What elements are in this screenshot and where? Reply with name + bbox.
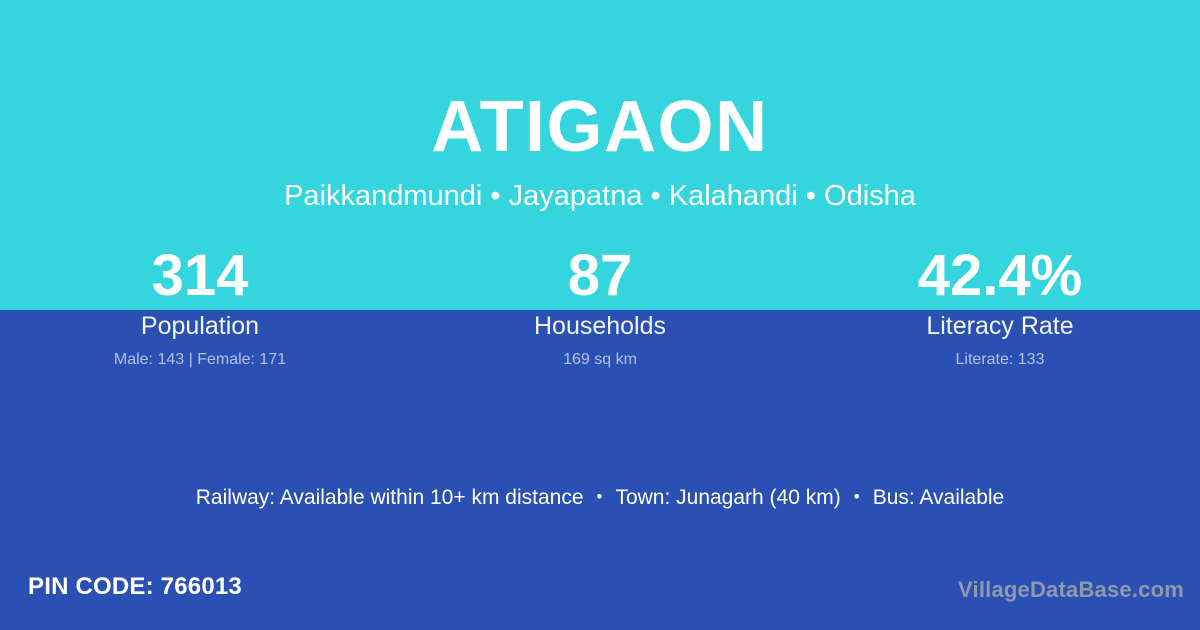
header: ATIGAON Paikkandmundi • Jayapatna • Kala… [0, 0, 1200, 214]
stat-literacy-rate: 42.4% Literacy Rate Literate: 133 [800, 242, 1200, 370]
stat-sublabel: Male: 143 | Female: 171 [0, 350, 400, 370]
stat-population: 314 Population Male: 143 | Female: 171 [0, 242, 400, 370]
info-bus: Bus: Available [873, 486, 1005, 509]
connectivity-info: Railway: Available within 10+ km distanc… [0, 482, 1200, 513]
info-separator: • [841, 482, 873, 512]
stat-households: 87 Households 169 sq km [400, 242, 800, 370]
info-town: Town: Junagarh (40 km) [615, 486, 840, 509]
info-railway: Railway: Available within 10+ km distanc… [196, 486, 584, 509]
breadcrumb: Paikkandmundi • Jayapatna • Kalahandi • … [0, 170, 1200, 214]
stat-value: 42.4% [800, 242, 1200, 310]
stat-sublabel: 169 sq km [400, 350, 800, 370]
stat-value: 314 [0, 242, 400, 310]
page-title: ATIGAON [0, 0, 1200, 170]
stat-label: Households [400, 310, 800, 342]
village-info-card: ATIGAON Paikkandmundi • Jayapatna • Kala… [0, 0, 1200, 630]
info-separator: • [584, 482, 616, 512]
stat-value: 87 [400, 242, 800, 310]
stats-row: 314 Population Male: 143 | Female: 171 8… [0, 242, 1200, 370]
stat-label: Literacy Rate [800, 310, 1200, 342]
stat-label: Population [0, 310, 400, 342]
site-watermark: VillageDataBase.com [958, 576, 1184, 604]
footer: PIN CODE: 766013 VillageDataBase.com [0, 558, 1200, 630]
pin-code: PIN CODE: 766013 [28, 572, 242, 602]
stat-sublabel: Literate: 133 [800, 350, 1200, 370]
